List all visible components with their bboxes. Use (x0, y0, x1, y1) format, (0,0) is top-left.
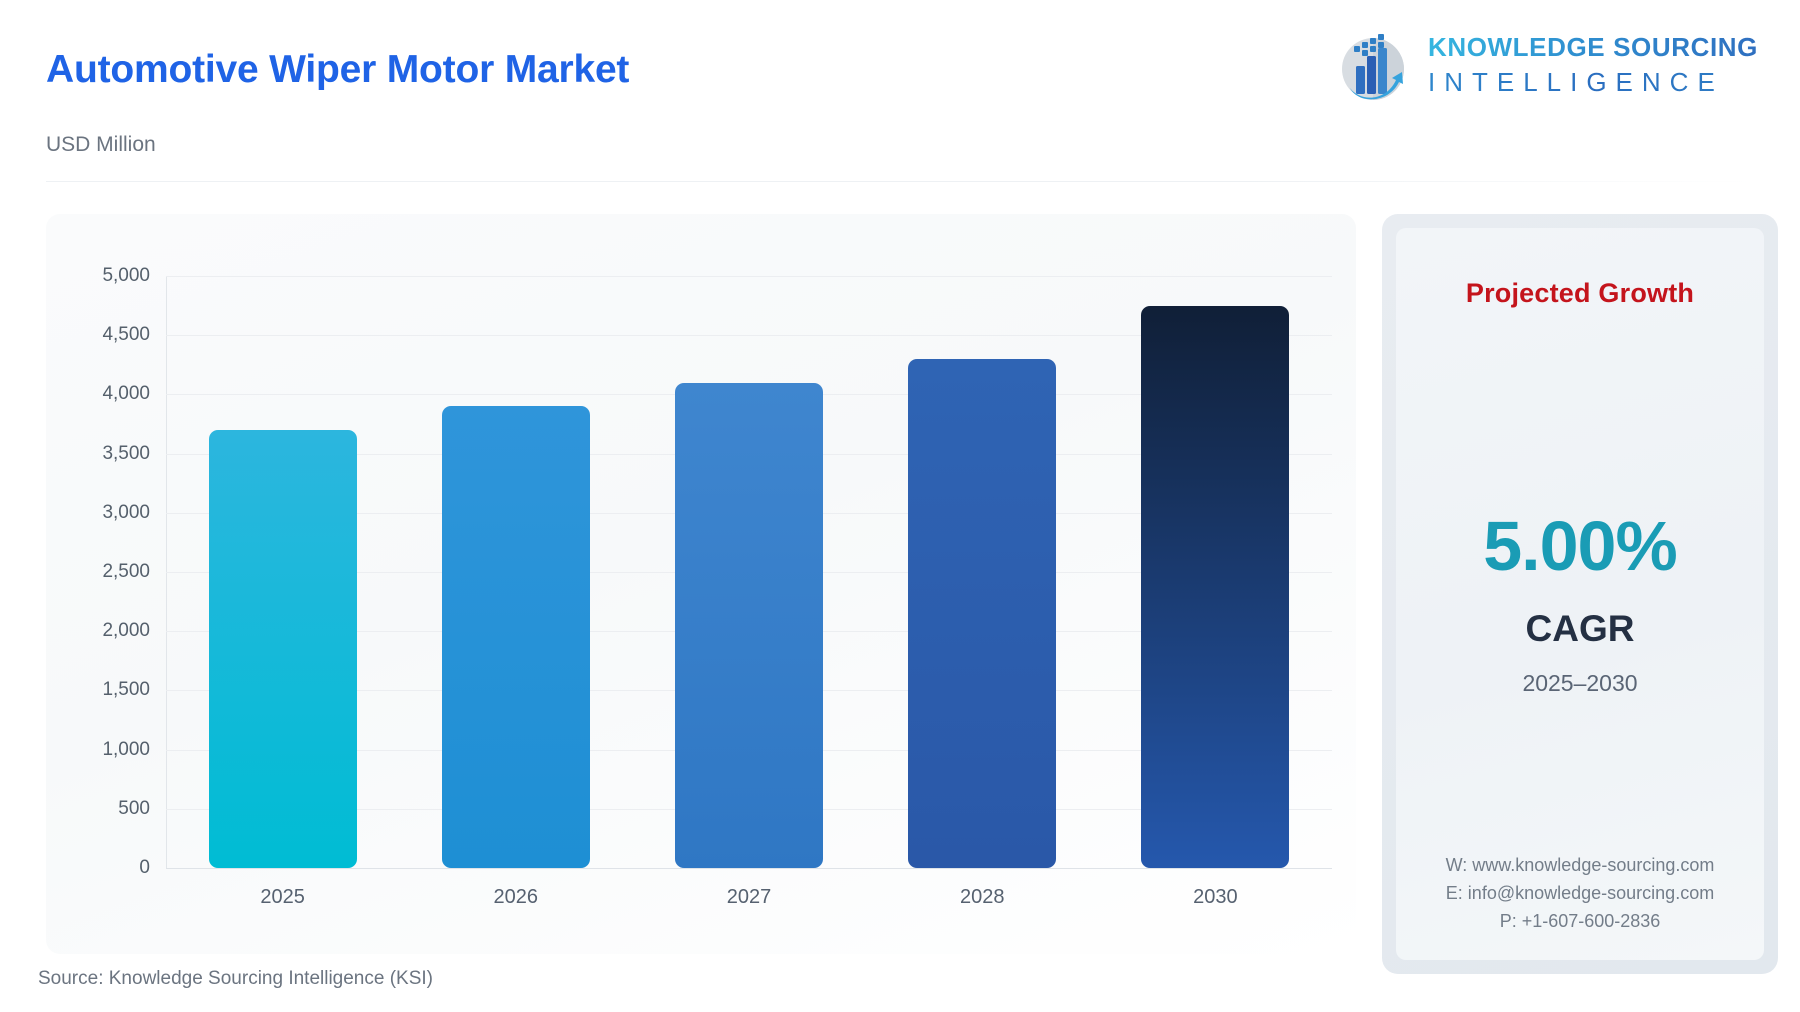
panel-title: Projected Growth (1466, 278, 1694, 309)
chart-page: Automotive Wiper Motor Market USD Millio… (0, 0, 1800, 1012)
cagr-value: 5.00% (1396, 506, 1764, 586)
cagr-range: 2025–2030 (1396, 670, 1764, 697)
logo-line-knowledge-sourcing: KNOWLEDGE SOURCING (1428, 32, 1758, 63)
bar-2025[interactable] (209, 430, 357, 868)
x-axis-tick-label: 2025 (260, 886, 305, 909)
page-header: Automotive Wiper Motor Market USD Millio… (0, 0, 1800, 182)
y-axis-tick-label: 3,500 (102, 443, 150, 465)
bar-2027[interactable] (675, 383, 823, 868)
bar-slot: 2030 (1099, 276, 1332, 868)
y-axis-tick-label: 4,500 (102, 324, 150, 346)
contact-phone[interactable]: P: +1-607-600-2836 (1396, 908, 1764, 936)
y-axis-tick-label: 2,000 (102, 620, 150, 642)
header-divider (46, 181, 1754, 182)
projected-growth-panel: Projected Growth 5.00% CAGR 2025–2030 W:… (1382, 214, 1778, 974)
company-logo: KNOWLEDGE SOURCING INTELLIGENCE (1334, 22, 1758, 108)
y-axis-tick-label: 0 (139, 857, 150, 879)
contact-email[interactable]: E: info@knowledge-sourcing.com (1396, 880, 1764, 908)
source-note: Source: Knowledge Sourcing Intelligence … (38, 968, 433, 990)
logo-wordmark: KNOWLEDGE SOURCING INTELLIGENCE (1428, 32, 1758, 98)
y-axis-tick-label: 500 (118, 798, 150, 820)
y-axis-tick-label: 4,000 (102, 383, 150, 405)
bar-slot: 2025 (166, 276, 399, 868)
page-subtitle: USD Million (46, 133, 156, 157)
y-axis-tick-label: 2,500 (102, 561, 150, 583)
bar-slot: 2028 (866, 276, 1099, 868)
contact-website[interactable]: W: www.knowledge-sourcing.com (1396, 852, 1764, 880)
contact-block: W: www.knowledge-sourcing.com E: info@kn… (1396, 852, 1764, 936)
bar-2030[interactable] (1141, 306, 1289, 868)
chart-card: 05001,0001,5002,0002,5003,0003,5004,0004… (46, 214, 1356, 954)
bar-chart-globe-arrow-icon (1334, 26, 1412, 104)
x-axis-tick-label: 2026 (494, 886, 539, 909)
bar-series: 20252026202720282030 (166, 276, 1332, 868)
bar-chart-plot-area: 05001,0001,5002,0002,5003,0003,5004,0004… (166, 276, 1332, 868)
y-axis-tick-label: 1,500 (102, 679, 150, 701)
gridline (166, 868, 1332, 869)
bar-slot: 2026 (399, 276, 632, 868)
cagr-label: CAGR (1396, 608, 1764, 650)
x-axis-tick-label: 2027 (727, 886, 772, 909)
y-axis-tick-label: 1,000 (102, 739, 150, 761)
projected-growth-inner: Projected Growth 5.00% CAGR 2025–2030 W:… (1396, 228, 1764, 960)
y-axis-tick-label: 5,000 (102, 265, 150, 287)
bar-2026[interactable] (442, 406, 590, 868)
x-axis-tick-label: 2028 (960, 886, 1005, 909)
y-axis-tick-label: 3,000 (102, 502, 150, 524)
x-axis-tick-label: 2030 (1193, 886, 1238, 909)
logo-line-intelligence: INTELLIGENCE (1428, 67, 1758, 98)
bar-slot: 2027 (632, 276, 865, 868)
bar-2028[interactable] (908, 359, 1056, 868)
page-title: Automotive Wiper Motor Market (46, 48, 629, 92)
